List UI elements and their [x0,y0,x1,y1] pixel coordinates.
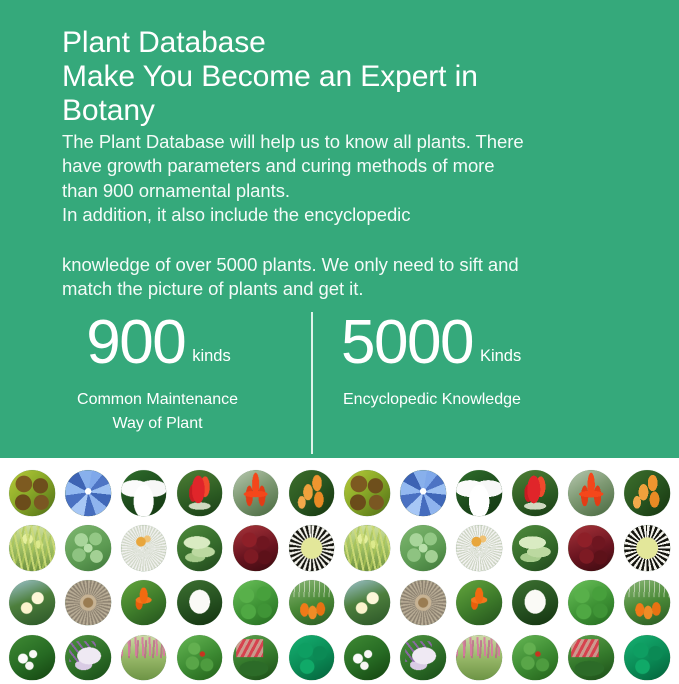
hero-description-part-1: The Plant Database will help us to know … [62,130,631,228]
plant-thumbnail-orange-flower-green-foliage[interactable] [453,577,505,629]
plant-thumbnail-coleus-variegated-leaves[interactable] [6,467,58,519]
thumbnail-circle-mask [512,525,558,571]
thumbnail-circle-mask [9,525,55,571]
thumbnail-image [401,580,447,626]
plant-thumbnail-red-torch-ginger-flower[interactable] [509,467,561,519]
thumbnail-circle-mask [568,580,614,626]
stat-value-row-left: 900 kinds [0,312,309,374]
plant-thumbnail-blue-agapanthus-flower[interactable] [397,467,449,519]
thumbnail-circle-mask [177,635,223,681]
thumbnail-image [289,580,335,626]
thumbnail-circle-mask [401,470,447,516]
plant-thumbnail-white-orchid-cluster[interactable] [6,632,58,684]
plant-thumbnail-gallery [0,458,679,672]
thumbnail-circle-mask [233,525,279,571]
thumbnail-circle-mask [345,580,391,626]
plant-thumbnail-yellow-white-plumeria[interactable] [6,577,58,629]
thumbnail-circle-mask [512,635,558,681]
plant-thumbnail-red-bract-plant[interactable] [565,632,617,684]
thumbnail-image [568,580,614,626]
thumbnail-circle-mask [345,470,391,516]
thumbnail-image [401,635,447,681]
plant-thumbnail-lush-green-foliage[interactable] [230,577,282,629]
plant-thumbnail-yellow-green-grass-plant[interactable] [342,522,394,574]
plant-thumbnail-dark-maroon-bloom[interactable] [565,522,617,574]
thumbnail-image [624,525,670,571]
thumbnail-image [121,525,167,571]
thumbnail-image [401,525,447,571]
thumbnail-image [233,470,279,516]
plant-thumbnail-orange-sturt-desert-pea[interactable] [230,467,282,519]
thumbnail-image [401,470,447,516]
plant-thumbnail-orange-bell-flowers[interactable] [621,467,673,519]
plant-thumbnail-orange-sturt-desert-pea[interactable] [565,467,617,519]
thumbnail-image [345,525,391,571]
thumbnail-circle-mask [512,470,558,516]
thumbnail-image [512,635,558,681]
thumbnail-circle-mask [624,580,670,626]
thumbnail-image [9,635,55,681]
plant-thumbnail-lush-green-foliage[interactable] [565,577,617,629]
plant-thumbnail-white-bell-flower-dark-spots[interactable] [509,577,561,629]
thumbnail-circle-mask [289,525,335,571]
plant-thumbnail-purple-striped-bloom[interactable] [397,632,449,684]
plant-thumbnail-coleus-variegated-leaves[interactable] [342,467,394,519]
thumbnail-image [624,580,670,626]
plant-thumbnail-black-white-yellow-center-flower[interactable] [286,522,338,574]
plant-thumbnail-green-cabbage-leaves[interactable] [174,522,226,574]
plant-thumbnail-white-orchid-cluster[interactable] [342,632,394,684]
thumbnail-image [121,470,167,516]
thumbnail-image [512,580,558,626]
thumbnail-circle-mask [456,635,502,681]
plant-thumbnail-green-succulent-leaves[interactable] [397,522,449,574]
plant-thumbnail-white-trillium-flower[interactable] [453,467,505,519]
thumbnail-circle-mask [512,580,558,626]
plant-thumbnail-white-trillium-flower[interactable] [118,467,170,519]
thumbnail-circle-mask [456,525,502,571]
plant-thumbnail-green-succulent-leaves[interactable] [62,522,114,574]
thumbnail-circle-mask [289,635,335,681]
stat-block-common-maintenance: 900 kinds Common Maintenance Way of Plan… [0,312,311,435]
thumbnail-circle-mask [65,635,111,681]
hero-description-part-2: knowledge of over 5000 plants. We only n… [62,253,631,301]
thumbnail-image [456,635,502,681]
thumbnail-circle-mask [9,635,55,681]
thumbnail-circle-mask [624,635,670,681]
plant-thumbnail-pink-spike-flowers[interactable] [453,632,505,684]
thumbnail-image [177,470,223,516]
thumbnail-image [9,525,55,571]
thumbnail-image [233,525,279,571]
thumbnail-circle-mask [9,580,55,626]
thumbnail-circle-mask [345,635,391,681]
thumbnail-circle-mask [568,635,614,681]
thumbnail-image [345,635,391,681]
thumbnail-circle-mask [65,470,111,516]
stat-caption-right: Encyclopedic Knowledge [325,388,679,412]
thumbnail-circle-mask [401,635,447,681]
plant-thumbnail-emerald-green-leaves[interactable] [286,632,338,684]
thumbnail-circle-mask [121,525,167,571]
thumbnail-circle-mask [121,580,167,626]
plant-thumbnail-pink-spike-flowers[interactable] [118,632,170,684]
thumbnail-circle-mask [177,470,223,516]
plant-thumbnail-crown-imperial-orange[interactable] [621,577,673,629]
thumbnail-image [121,635,167,681]
thumbnail-image [568,525,614,571]
plant-thumbnail-blue-agapanthus-flower[interactable] [62,467,114,519]
plant-thumbnail-white-bell-flower-dark-spots[interactable] [174,577,226,629]
stat-value-row-right: 5000 Kinds [325,312,679,374]
thumbnail-circle-mask [401,580,447,626]
thumbnail-image [456,525,502,571]
thumbnail-circle-mask [121,470,167,516]
thumbnail-image [65,635,111,681]
plant-thumbnail-crown-imperial-orange[interactable] [286,577,338,629]
thumbnail-circle-mask [65,525,111,571]
thumbnail-circle-mask [65,580,111,626]
plant-thumbnail-yellow-green-grass-plant[interactable] [6,522,58,574]
thumbnail-image [345,580,391,626]
stat-unit-left: kinds [192,348,231,365]
thumbnail-image [624,470,670,516]
thumbnail-image [121,580,167,626]
stat-number-5000: 5000 [341,312,473,374]
thumbnail-image [233,580,279,626]
thumbnail-circle-mask [345,525,391,571]
thumbnail-circle-mask [121,635,167,681]
thumbnail-circle-mask [289,580,335,626]
thumbnail-circle-mask [456,470,502,516]
thumbnail-image [512,525,558,571]
plant-thumbnail-white-lace-orange-bloom[interactable] [118,522,170,574]
thumbnail-image [289,470,335,516]
plant-thumbnail-stapelia-starfish-flower[interactable] [62,577,114,629]
stats-row: 900 kinds Common Maintenance Way of Plan… [0,312,679,458]
plant-thumbnail-yellow-white-plumeria[interactable] [342,577,394,629]
stat-unit-right: Kinds [480,348,521,365]
plant-thumbnail-black-white-yellow-center-flower[interactable] [621,522,673,574]
thumbnail-circle-mask [9,470,55,516]
thumbnail-image [624,635,670,681]
plant-thumbnail-green-shrub-red-bloom[interactable] [174,632,226,684]
stat-block-encyclopedic-knowledge: 5000 Kinds Encyclopedic Knowledge [311,312,679,412]
plant-thumbnail-red-bract-plant[interactable] [230,632,282,684]
thumbnail-image [65,470,111,516]
plant-thumbnail-red-torch-ginger-flower[interactable] [174,467,226,519]
thumbnail-image [177,635,223,681]
plant-thumbnail-orange-bell-flowers[interactable] [286,467,338,519]
thumbnail-circle-mask [568,470,614,516]
thumbnail-image [289,525,335,571]
stat-number-900: 900 [86,312,185,374]
thumbnail-image [177,525,223,571]
thumbnail-circle-mask [624,525,670,571]
thumbnail-circle-mask [456,580,502,626]
plant-thumbnail-orange-flower-green-foliage[interactable] [118,577,170,629]
thumbnail-circle-mask [177,525,223,571]
thumbnail-image [512,470,558,516]
thumbnail-image [65,525,111,571]
thumbnail-image [456,470,502,516]
thumbnail-image [568,635,614,681]
plant-thumbnail-white-lace-orange-bloom[interactable] [453,522,505,574]
thumbnail-image [568,470,614,516]
thumbnail-image [177,580,223,626]
thumbnail-circle-mask [568,525,614,571]
thumbnail-image [233,635,279,681]
plant-thumbnail-green-shrub-red-bloom[interactable] [509,632,561,684]
thumbnail-image [456,580,502,626]
plant-thumbnail-green-cabbage-leaves[interactable] [509,522,561,574]
thumbnail-circle-mask [177,580,223,626]
thumbnail-circle-mask [624,470,670,516]
page-title: Plant Database Make You Become an Expert… [62,26,631,128]
thumbnail-circle-mask [233,635,279,681]
plant-thumbnail-grid [6,467,673,666]
thumbnail-image [9,580,55,626]
hero-text-block: Plant Database Make You Become an Expert… [62,26,631,228]
stat-caption-left: Common Maintenance Way of Plant [0,388,309,435]
thumbnail-image [345,470,391,516]
plant-thumbnail-dark-maroon-bloom[interactable] [230,522,282,574]
thumbnail-image [9,470,55,516]
thumbnail-circle-mask [233,470,279,516]
thumbnail-image [289,635,335,681]
plant-thumbnail-purple-striped-bloom[interactable] [62,632,114,684]
hero-panel: Plant Database Make You Become an Expert… [0,0,679,458]
thumbnail-circle-mask [233,580,279,626]
thumbnail-circle-mask [401,525,447,571]
plant-thumbnail-stapelia-starfish-flower[interactable] [397,577,449,629]
thumbnail-image [65,580,111,626]
plant-thumbnail-emerald-green-leaves[interactable] [621,632,673,684]
plant-database-promo-page: Plant Database Make You Become an Expert… [0,0,679,672]
thumbnail-circle-mask [289,470,335,516]
